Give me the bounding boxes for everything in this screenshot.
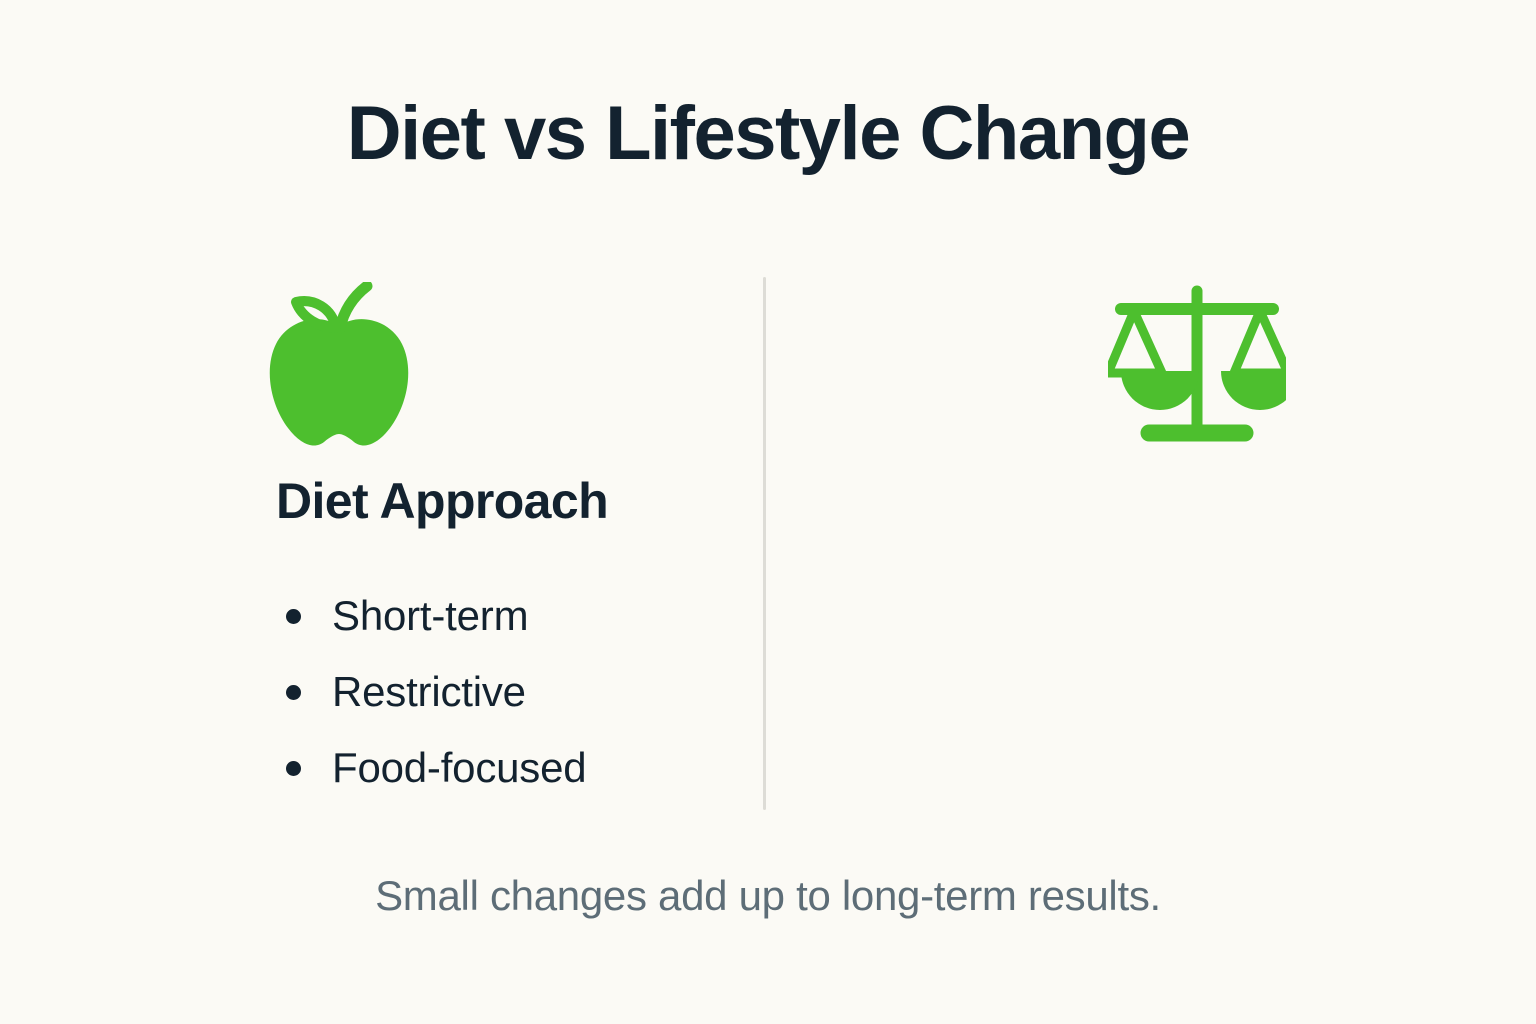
bullet-dot-icon [286,761,301,776]
list-item: Restrictive [286,654,586,730]
comparison-columns: Diet Approach Short-term Restrictive Foo… [0,278,1536,818]
bullet-dot-icon [286,609,301,624]
feature-list: Short-term Restrictive Food-focused [286,578,586,806]
column-heading: Diet Approach [276,474,608,529]
bullet-dot-icon [286,685,301,700]
list-item-label: Food-focused [332,744,586,792]
footer-caption: Small changes add up to long-term result… [0,872,1536,920]
page-title: Diet vs Lifestyle Change [0,96,1536,172]
apple-icon [0,278,768,454]
column-lifestyle-change: Lifestyle Change Ongoing Balanced Multip… [768,278,1536,818]
column-diet-approach: Diet Approach Short-term Restrictive Foo… [0,278,768,818]
list-item-label: Restrictive [332,668,526,716]
list-item: Food-focused [286,730,586,806]
balance-scale-icon [768,278,1536,454]
list-item: Short-term [286,578,586,654]
list-item-label: Short-term [332,592,528,640]
infographic-page: Diet vs Lifestyle Change Diet Approach S [0,0,1536,1024]
